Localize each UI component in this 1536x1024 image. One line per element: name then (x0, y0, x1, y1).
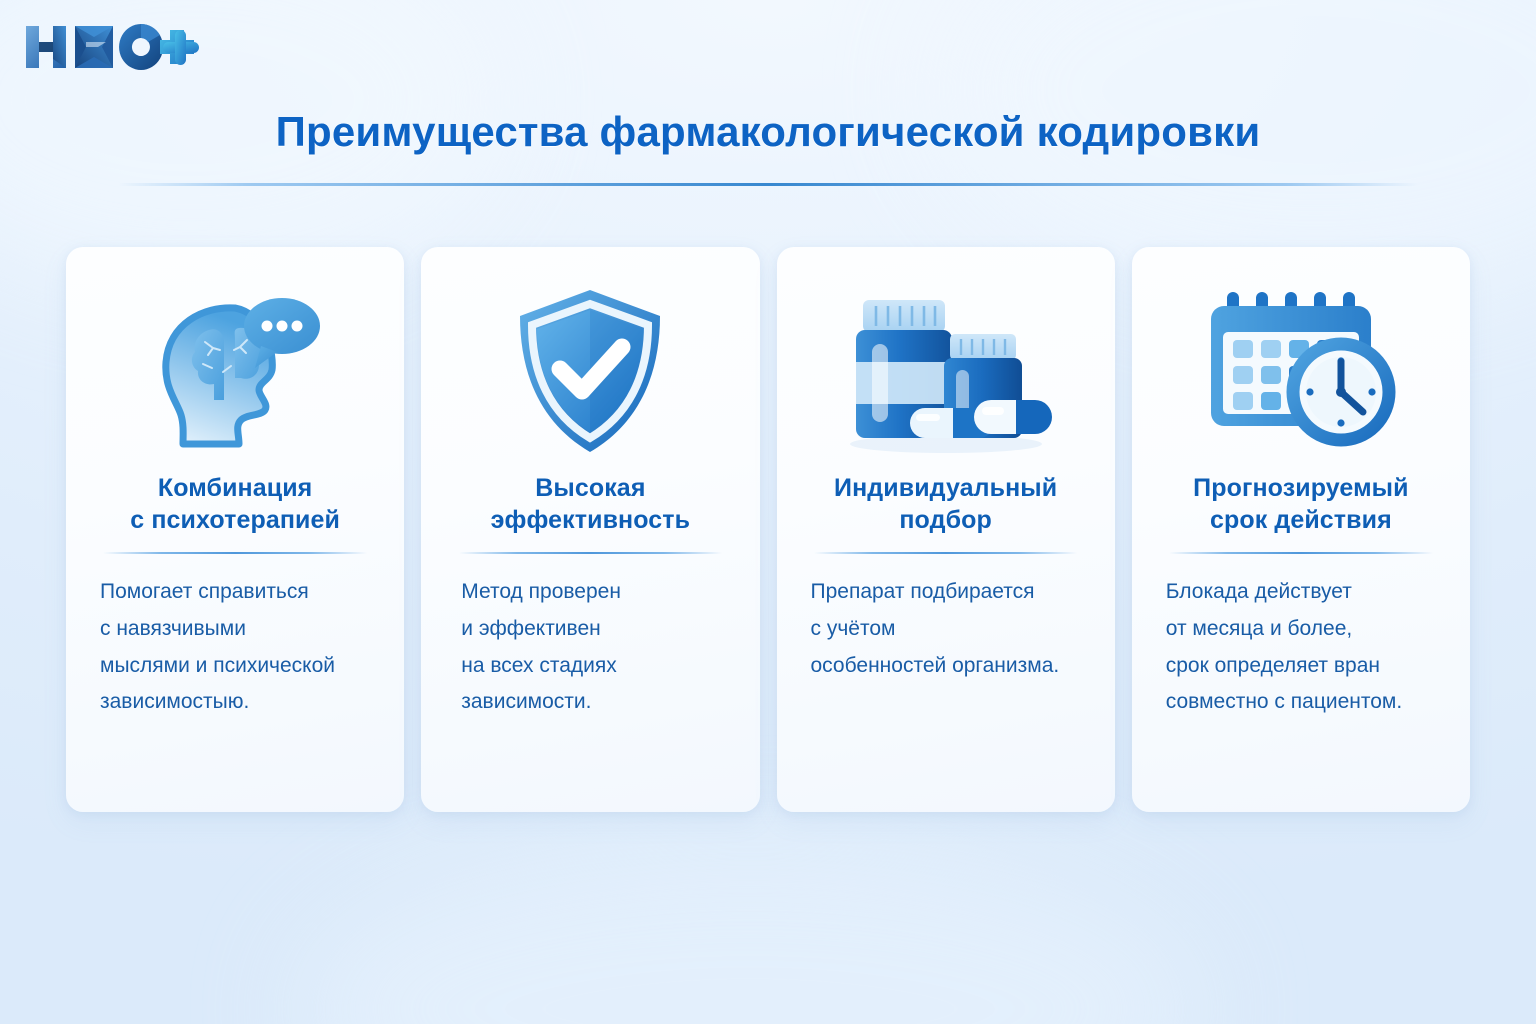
page-title: Преимущества фармакологической кодировки (0, 108, 1536, 156)
card-divider (103, 552, 366, 554)
card-title-line-2: с психотерапией (130, 506, 340, 534)
card-body-line: срок определяет вран (1166, 648, 1440, 685)
benefit-card-effectiveness[interactable]: Высокая эффективность Метод проверен и э… (421, 247, 759, 812)
card-title: Индивидуальный подбор (834, 473, 1057, 536)
card-divider (1169, 552, 1432, 554)
card-body-line: совместно с пациентом. (1166, 684, 1440, 721)
card-body-line: Помогает справиться (100, 574, 374, 611)
infographic-slide: Преимущества фармакологической кодировки (0, 0, 1536, 1024)
background-glow-bottom (300, 844, 1200, 1024)
card-body-line: Блокада действует (1166, 574, 1440, 611)
neo-plus-logo-icon (20, 18, 200, 76)
card-body-line: с учётом (811, 611, 1085, 648)
card-body-line: Препарат подбирается (811, 574, 1085, 611)
benefit-card-predictable-duration[interactable]: Прогнозируемый срок действия Блокада дей… (1132, 247, 1470, 812)
card-title-line-1: Индивидуальный (834, 474, 1057, 502)
calendar-clock-icon (1148, 273, 1454, 469)
card-divider (814, 552, 1077, 554)
card-body: Метод проверен и эффективен на всех стад… (437, 574, 743, 721)
card-body-line: на всех стадиях (461, 648, 729, 685)
benefit-card-individual-selection[interactable]: Индивидуальный подбор Препарат подбирает… (777, 247, 1115, 812)
pill-bottles-capsules-icon (793, 273, 1099, 469)
card-body-line: зависимостыю. (100, 684, 374, 721)
card-body-line: с навязчивыми (100, 611, 374, 648)
card-body-line: от месяца и более, (1166, 611, 1440, 648)
brand-logo[interactable] (20, 18, 200, 76)
card-title-line-1: Комбинация (158, 474, 313, 502)
shield-check-icon (437, 273, 743, 469)
card-body-line: мыслями и психической (100, 648, 374, 685)
benefits-card-row: Комбинация с психотерапией Помогает спра… (66, 247, 1470, 812)
card-body-line: зависимости. (461, 684, 729, 721)
card-body-line: особенностей организма. (811, 648, 1085, 685)
card-body: Блокада действует от месяца и более, сро… (1148, 574, 1454, 721)
card-title: Высокая эффективность (491, 473, 690, 536)
card-body-line: Метод проверен (461, 574, 729, 611)
title-divider (118, 183, 1418, 186)
card-divider (459, 552, 722, 554)
card-title-line-2: подбор (899, 506, 992, 534)
card-title: Прогнозируемый срок действия (1193, 473, 1408, 536)
card-title-line-1: Прогнозируемый (1193, 474, 1408, 502)
card-title-line-1: Высокая (535, 474, 645, 502)
card-title-line-2: эффективность (491, 506, 690, 534)
card-body-line: и эффективен (461, 611, 729, 648)
benefit-card-psychotherapy[interactable]: Комбинация с психотерапией Помогает спра… (66, 247, 404, 812)
card-title-line-2: срок действия (1210, 506, 1392, 534)
card-body: Препарат подбирается с учётом особенност… (793, 574, 1099, 684)
head-brain-speech-bubble-icon (82, 273, 388, 469)
card-body: Помогает справиться с навязчивыми мыслям… (82, 574, 388, 721)
card-title: Комбинация с психотерапией (130, 473, 340, 536)
